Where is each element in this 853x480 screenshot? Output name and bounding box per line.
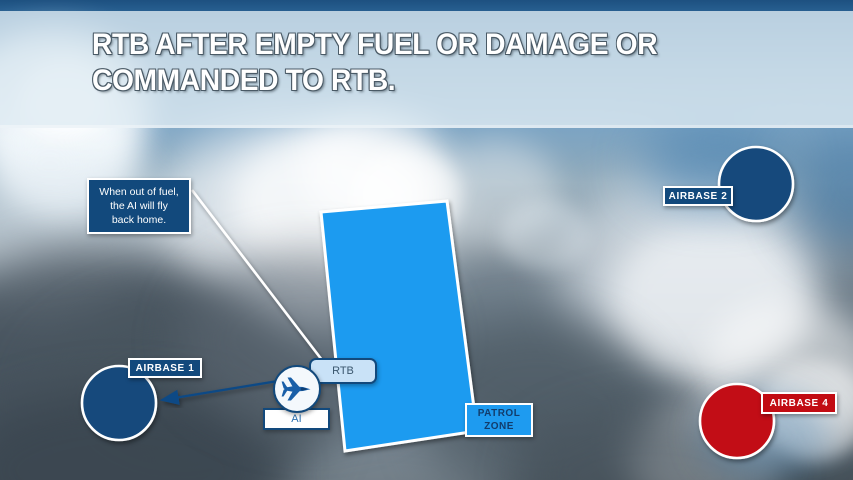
diagram-vector-layer <box>0 0 853 480</box>
callout-note: When out of fuel, the AI will fly back h… <box>87 178 191 234</box>
slide-canvas: RTB AFTER EMPTY FUEL OR DAMAGE OR COMMAN… <box>0 0 853 480</box>
airbase-2-marker[interactable] <box>719 147 793 221</box>
rtb-flight-path-arrow <box>162 381 278 400</box>
airbase-1-label[interactable]: AIRBASE 1 <box>128 358 202 378</box>
patrol-zone-label[interactable]: PATROL ZONE <box>465 403 533 437</box>
airbase-2-label[interactable]: AIRBASE 2 <box>663 186 733 206</box>
airbase-4-label[interactable]: AIRBASE 4 <box>761 392 837 414</box>
callout-leader-line <box>192 190 322 360</box>
fighter-jet-icon[interactable] <box>273 365 321 413</box>
patrol-zone-polygon[interactable] <box>321 201 477 451</box>
fighter-jet-glyph <box>279 371 315 407</box>
